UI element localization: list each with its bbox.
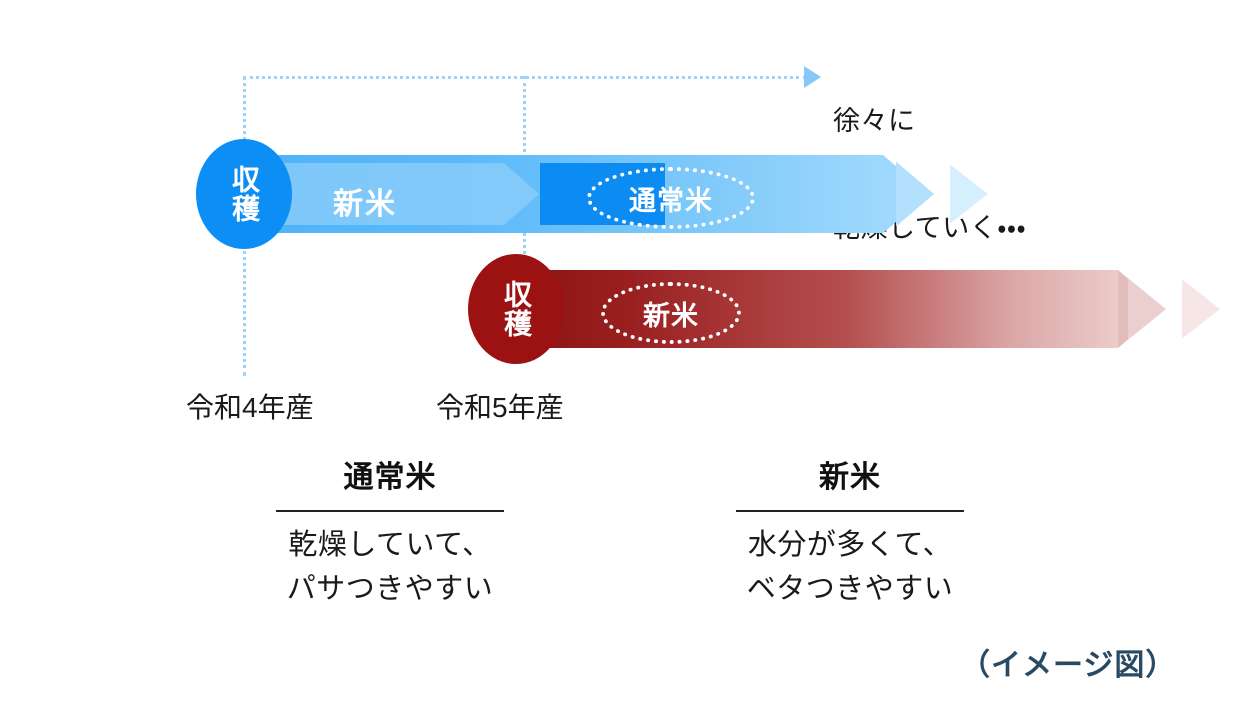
comparison-panel-shinmai: 新米 水分が多くて、 ベタつきやすい bbox=[700, 452, 1000, 611]
comparison-panel-tsujomai: 通常米 乾燥していて、 パサつきやすい bbox=[240, 452, 540, 611]
comparison-line2-shinmai: ベタつきやすい bbox=[700, 568, 1000, 612]
year-label-reiwa5: 令和5年産 bbox=[436, 386, 564, 426]
drying-annotation-line1: 徐々に bbox=[833, 104, 1026, 140]
guide-arrow-head-icon bbox=[804, 66, 821, 88]
comparison-line1-shinmai: 水分が多くて、 bbox=[700, 524, 1000, 568]
timeline-bar-reiwa5-chevron-1-icon bbox=[1128, 270, 1166, 348]
segment-label-tsujomai-reiwa4: 通常米 bbox=[587, 167, 755, 229]
comparison-divider-tsujomai bbox=[276, 510, 504, 512]
harvest-badge-reiwa5: 収穫 bbox=[468, 254, 564, 364]
timeline-bar-reiwa4-chevron-2-icon bbox=[950, 155, 988, 233]
timeline-bar-reiwa4-chevron-1-icon bbox=[896, 155, 934, 233]
comparison-line2-tsujomai: パサつきやすい bbox=[240, 568, 540, 612]
harvest-badge-reiwa5-label: 収穫 bbox=[502, 280, 530, 338]
harvest-badge-reiwa4-label: 収穫 bbox=[230, 165, 258, 223]
rice-timeline-diagram: 徐々に 乾燥していく・・・ 収穫 新米 通常米 bbox=[0, 0, 1260, 708]
timeline-bar-reiwa4-inner-arrow-icon bbox=[269, 163, 539, 225]
segment-label-shinmai-reiwa5: 新米 bbox=[601, 282, 741, 344]
comparison-divider-shinmai bbox=[736, 510, 964, 512]
segment-label-shinmai-reiwa4: 新米 bbox=[333, 179, 397, 223]
timeline-bar-reiwa5-chevron-2-icon bbox=[1182, 270, 1220, 348]
comparison-line1-tsujomai: 乾燥していて、 bbox=[240, 524, 540, 568]
image-caption: （イメージ図） bbox=[960, 640, 1176, 684]
harvest-badge-reiwa4: 収穫 bbox=[196, 139, 292, 249]
comparison-title-tsujomai: 通常米 bbox=[240, 452, 540, 496]
comparison-title-shinmai: 新米 bbox=[700, 452, 1000, 496]
year-label-reiwa4: 令和4年産 bbox=[186, 386, 314, 426]
